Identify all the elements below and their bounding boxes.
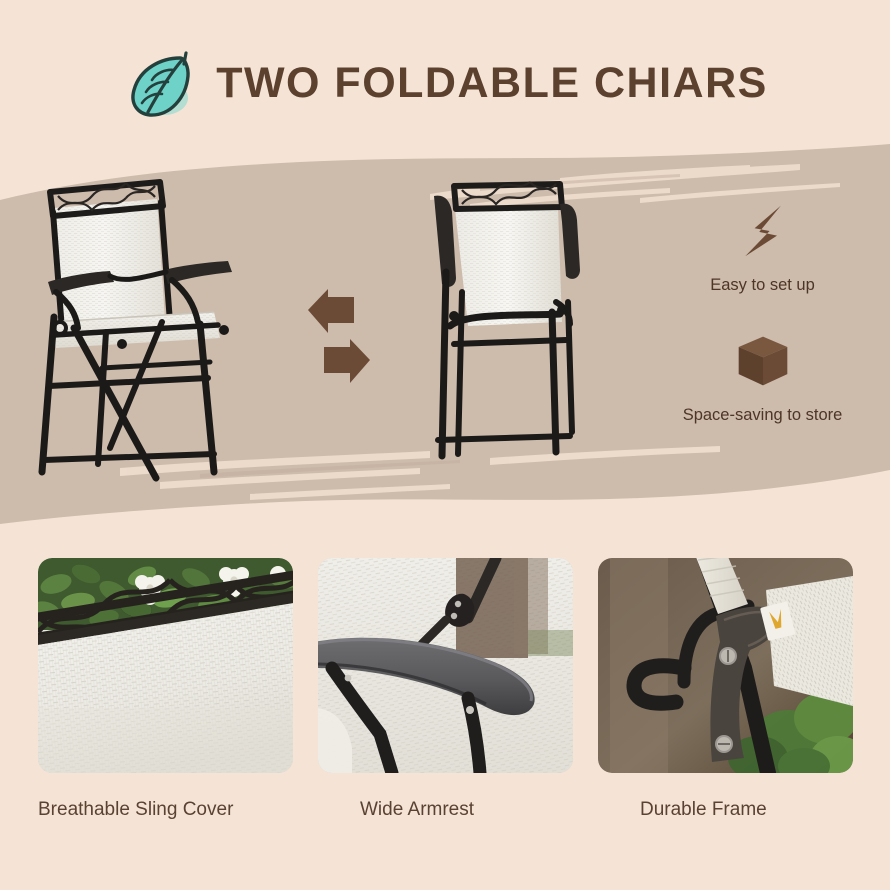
infographic-root: TWO FOLDABLE CHIARS	[0, 0, 890, 890]
page-title: TWO FOLDABLE CHIARS	[216, 62, 768, 105]
photo-breathable-sling-cover	[38, 558, 293, 773]
chair-folded-image	[410, 174, 625, 486]
photo-durable-frame	[598, 558, 853, 773]
photo-caption: Durable Frame	[598, 799, 853, 821]
photo-caption: Breathable Sling Cover	[38, 799, 293, 821]
feature-label: Space-saving to store	[645, 406, 880, 425]
photo-wide-armrest	[318, 558, 573, 773]
lightning-bolt-icon	[645, 200, 880, 262]
photo-card-wide-armrest: Wide Armrest	[318, 558, 573, 821]
photo-card-breathable-sling-cover: Breathable Sling Cover	[38, 558, 293, 821]
arrow-left-icon	[308, 289, 354, 333]
cube-box-icon	[645, 330, 880, 392]
feature-label: Easy to set up	[645, 276, 880, 295]
photo-caption: Wide Armrest	[318, 799, 573, 821]
feature-photo-grid: Breathable Sling Cover	[0, 558, 890, 858]
photo-card-durable-frame: Durable Frame	[598, 558, 853, 821]
feature-list: Easy to set up Space-saving to store	[645, 188, 880, 488]
header: TWO FOLDABLE CHIARS	[0, 28, 890, 138]
chair-open-image	[14, 172, 266, 490]
fold-direction-arrows	[300, 283, 380, 383]
feature-item-space-saving-to-store: Space-saving to store	[645, 330, 880, 425]
main-illustration: Easy to set up Space-saving to store	[0, 138, 890, 528]
leaf-icon	[122, 46, 198, 124]
feature-item-easy-to-set-up: Easy to set up	[645, 200, 880, 295]
arrow-right-icon	[324, 339, 370, 383]
